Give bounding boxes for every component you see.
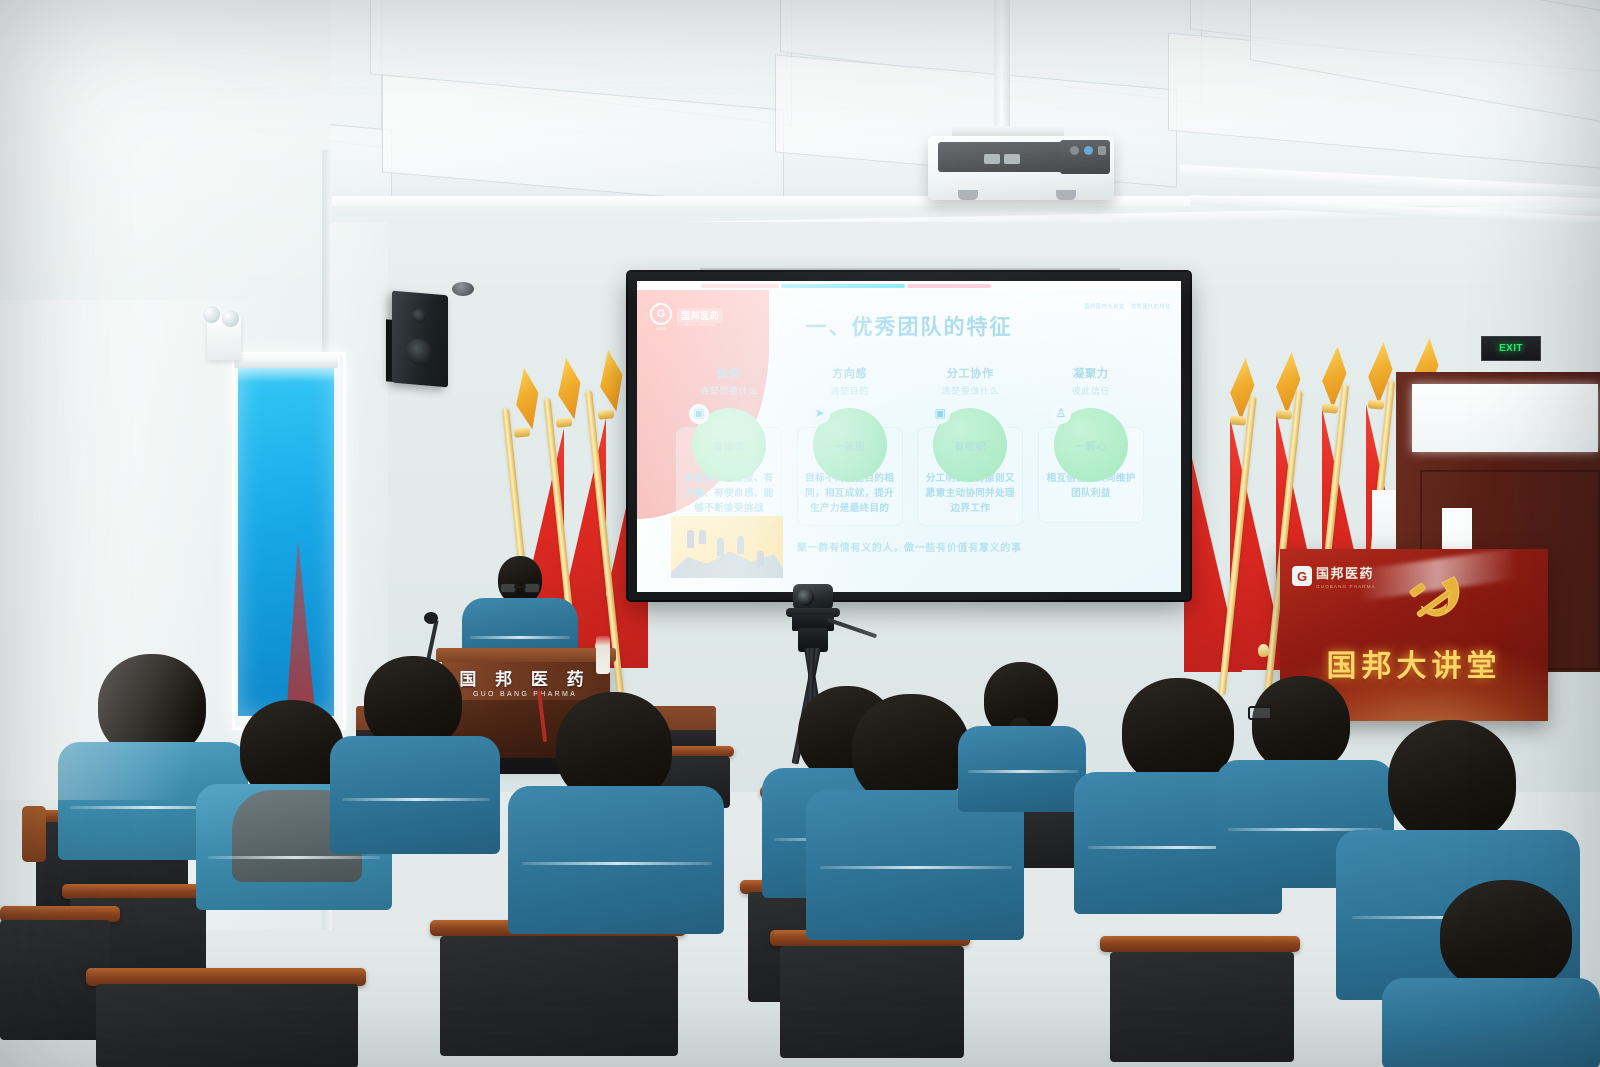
water-bottle xyxy=(596,636,610,674)
slide-stripe-pink-left xyxy=(701,284,779,288)
ceiling-projector xyxy=(928,136,1114,200)
briefcase-icon: ▣ xyxy=(691,405,707,421)
camera-lens xyxy=(797,589,814,606)
column-subheading: 彼此信任 xyxy=(1035,384,1147,397)
column-bubble-label: 一张图 xyxy=(833,438,865,453)
banner-logo-name-cn: 国邦医药 xyxy=(1316,563,1376,582)
blind-headrail[interactable] xyxy=(234,356,338,368)
column-heading: 方向感 xyxy=(794,365,906,381)
column-bubble-area: 一张图 ➤ xyxy=(794,404,906,486)
column-bubble-label: 一颗心 xyxy=(1075,438,1107,453)
column-bubble-area: 有追求 ▣ xyxy=(673,404,785,486)
audience-glasses xyxy=(1248,706,1272,720)
column-subheading: 清楚想要什么 xyxy=(673,384,785,397)
slide-title: 一、优秀团队的特征 xyxy=(637,311,1181,341)
teamwork-illustration xyxy=(671,516,783,578)
door-transom-window xyxy=(1412,384,1598,452)
projector-mount xyxy=(994,0,1010,132)
exit-sign-label: EXIT xyxy=(1499,343,1523,354)
banner-logo-name-en: GUOBANG PHARMA xyxy=(1316,584,1376,589)
column-heading: 凝聚力 xyxy=(1035,365,1147,381)
podium-sign: 国 邦 医 药 GUO BANG PHARMA xyxy=(455,665,595,698)
illustration-hill xyxy=(671,544,783,578)
slide-stripe-pink-right xyxy=(907,284,991,288)
wall-speaker xyxy=(392,291,448,388)
podium-name-en: GUO BANG PHARMA xyxy=(455,691,595,698)
slide-column-4: 凝聚力 彼此信任 相互信任，共同维护团队利益 一颗心 ♙ xyxy=(1035,365,1147,555)
banner-logo-mark: G xyxy=(1292,566,1312,586)
column-bubble-area: 一颗心 ♙ xyxy=(1035,404,1147,486)
slide-column-2: 方向感 清楚目的 目标不同，但目的相同，相互成就，提升生产力是最终目的 一张图 … xyxy=(794,365,906,555)
podium-name-cn: 国 邦 医 药 xyxy=(455,665,595,690)
exit-sign: EXIT xyxy=(1481,336,1541,361)
lecture-room-photo: EXIT G GUO 国邦医药 xyxy=(0,0,1600,1067)
slide-stripe-cyan xyxy=(781,284,905,288)
column-subheading: 清楚要做什么 xyxy=(914,384,1026,397)
projection-screen[interactable]: G GUO 国邦医药 GUOBANG PHARMA 国邦医药大讲堂 · 优秀团队… xyxy=(637,281,1181,592)
column-heading: 分工协作 xyxy=(914,365,1026,381)
presenter-glasses xyxy=(500,583,540,592)
slide-column-3: 分工协作 清楚要做什么 分工明确，有原则又愿意主动协同并处理边界工作 有组织 ▣ xyxy=(914,365,1026,555)
column-bubble-label: 有组织 xyxy=(954,438,986,453)
column-bubble-label: 有追求 xyxy=(713,438,745,453)
column-subheading: 清楚目的 xyxy=(794,384,906,397)
microphone-head xyxy=(424,612,438,624)
emergency-light xyxy=(207,316,241,360)
slide-footer-caption: 聚一群有情有义的人，做一些有价值有意义的事 xyxy=(797,539,1147,554)
presentation-slide: G GUO 国邦医药 GUOBANG PHARMA 国邦医药大讲堂 · 优秀团队… xyxy=(637,281,1181,592)
hammer-and-sickle-emblem xyxy=(1402,571,1476,631)
slide-top-right-note: 国邦医药大讲堂 · 优秀团队的特征 xyxy=(1085,303,1171,310)
column-bubble-area: 有组织 ▣ xyxy=(914,404,1026,486)
podium-top xyxy=(436,648,616,662)
toolbox-icon: ▣ xyxy=(932,405,948,421)
presenter-head xyxy=(498,556,542,604)
ceiling-camera-dome xyxy=(452,282,474,296)
handshake-icon: ♙ xyxy=(1053,405,1069,421)
paper-plane-icon: ➤ xyxy=(812,405,828,421)
banner-logo: G 国邦医药 GUOBANG PHARMA xyxy=(1292,563,1376,589)
column-heading: 信仰 xyxy=(673,365,785,381)
window-blind[interactable] xyxy=(238,368,334,716)
